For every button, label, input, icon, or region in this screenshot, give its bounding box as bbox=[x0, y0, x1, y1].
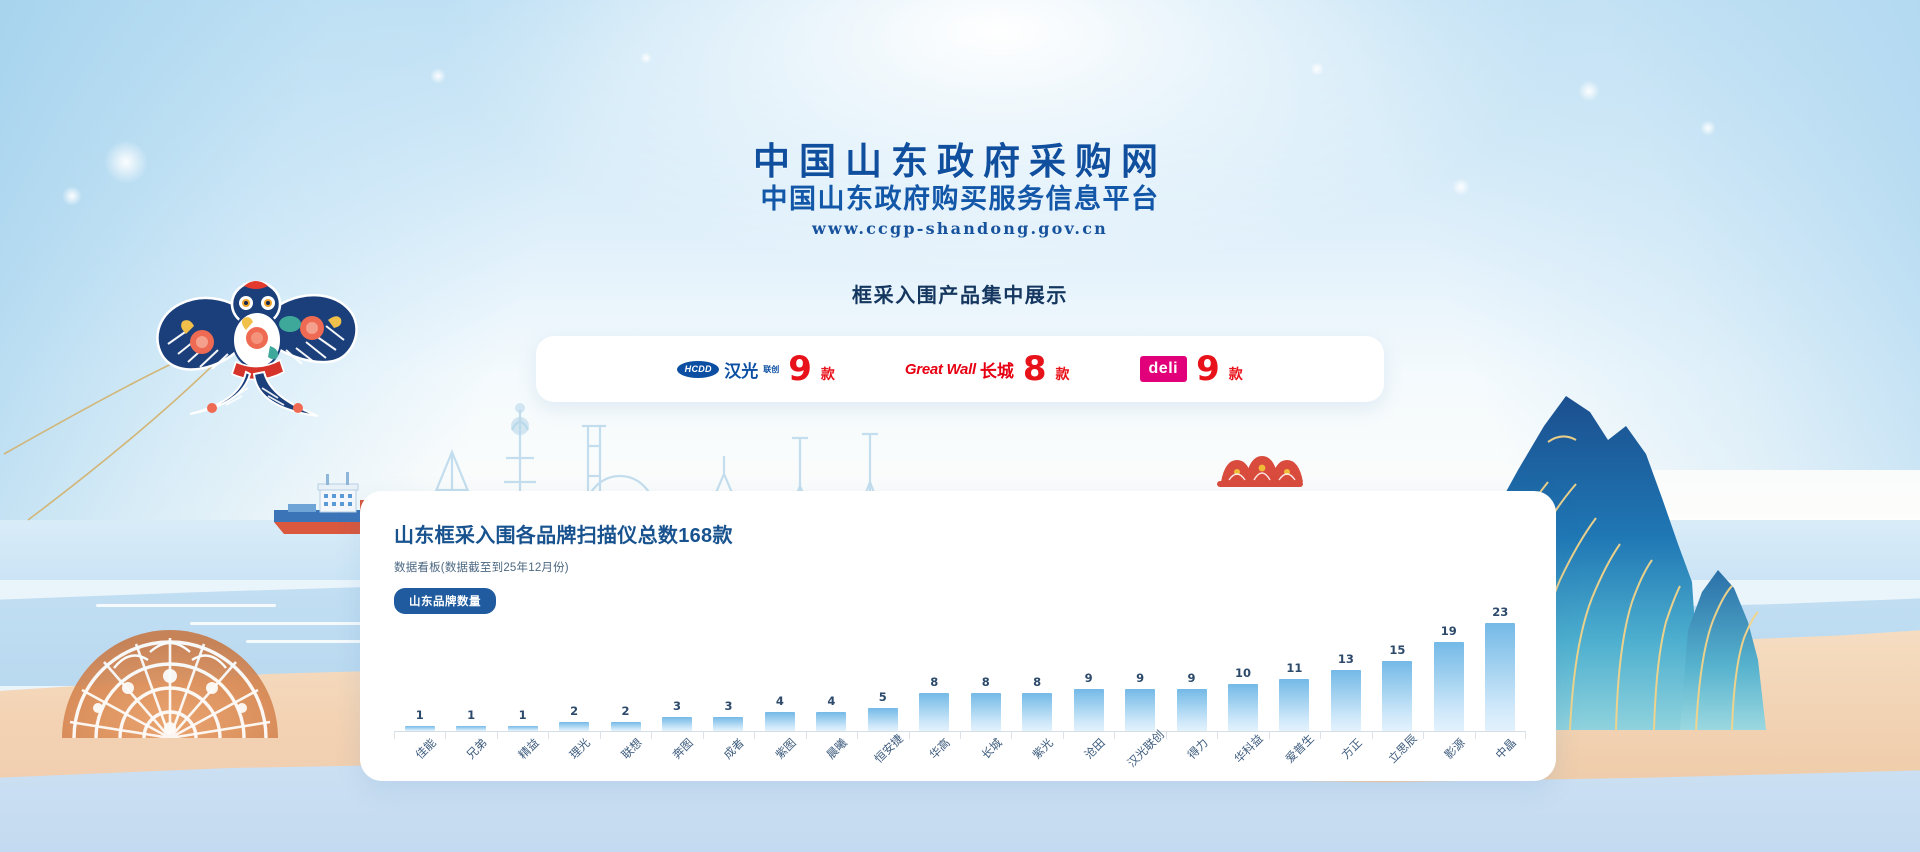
bar-value-label: 19 bbox=[1441, 624, 1457, 638]
bokeh-dot bbox=[1578, 80, 1600, 102]
brand-unit-hanguang: 款 bbox=[821, 364, 835, 384]
axis-tick bbox=[703, 731, 754, 740]
brand-unit-greatwall: 款 bbox=[1056, 364, 1070, 384]
chart-plot-area: 1112233445888999101113151923 bbox=[394, 603, 1526, 731]
x-label-cell: 立思辰 bbox=[1372, 741, 1423, 787]
chart-x-labels: 佳能兄弟精益理光联想奔图成者紫图晨曦恒安捷华高长城紫光沧田汉光联创得力华科益爱普… bbox=[394, 741, 1526, 787]
papercut-mandala bbox=[55, 598, 285, 738]
bar-rect[interactable] bbox=[1331, 670, 1361, 731]
bar-column[interactable]: 1 bbox=[497, 603, 548, 731]
bar-rect[interactable] bbox=[1125, 689, 1155, 731]
brand-item-hanguang[interactable]: HCDD 汉光 联创 9 款 bbox=[677, 352, 835, 386]
x-label-cell: 紫图 bbox=[754, 741, 805, 787]
bar-value-label: 9 bbox=[1188, 671, 1196, 685]
bar-column[interactable]: 9 bbox=[1166, 603, 1217, 731]
axis-tick bbox=[548, 731, 599, 740]
deli-logo-icon: deli bbox=[1140, 356, 1188, 382]
bokeh-dot bbox=[430, 68, 446, 84]
bar-column[interactable]: 8 bbox=[1011, 603, 1062, 731]
axis-tick bbox=[394, 731, 445, 740]
x-label-cell: 沧田 bbox=[1063, 741, 1114, 787]
site-header: 中国山东政府采购网 中国山东政府购买服务信息平台 www.ccgp-shando… bbox=[0, 140, 1920, 238]
brand-item-deli[interactable]: deli 9 款 bbox=[1140, 352, 1243, 386]
bar-rect[interactable] bbox=[919, 693, 949, 731]
x-label-cell: 华高 bbox=[909, 741, 960, 787]
axis-tick bbox=[1423, 731, 1474, 740]
bar-value-label: 11 bbox=[1286, 661, 1302, 675]
section-title: 框采入围产品集中展示 bbox=[0, 279, 1920, 308]
bar-value-label: 1 bbox=[416, 708, 424, 722]
bar-column[interactable]: 3 bbox=[703, 603, 754, 731]
bar-value-label: 23 bbox=[1492, 605, 1508, 619]
bar-rect[interactable] bbox=[662, 717, 692, 731]
site-subtitle: 中国山东政府购买服务信息平台 bbox=[0, 184, 1920, 217]
bokeh-dot bbox=[640, 52, 652, 64]
x-label-cell: 奔图 bbox=[651, 741, 702, 787]
bar-value-label: 5 bbox=[879, 690, 887, 704]
axis-tick bbox=[1320, 731, 1371, 740]
bar-value-label: 13 bbox=[1338, 652, 1354, 666]
brand-count-deli: 9 bbox=[1196, 352, 1220, 386]
axis-tick bbox=[754, 731, 805, 740]
bar-rect[interactable] bbox=[713, 717, 743, 731]
bar-value-label: 4 bbox=[827, 694, 835, 708]
site-url: www.ccgp-shandong.gov.cn bbox=[0, 219, 1920, 238]
bar-column[interactable]: 15 bbox=[1372, 603, 1423, 731]
bar-value-label: 15 bbox=[1389, 643, 1405, 657]
axis-tick bbox=[497, 731, 548, 740]
bar-column[interactable]: 1 bbox=[445, 603, 496, 731]
axis-tick bbox=[909, 731, 960, 740]
axis-tick bbox=[445, 731, 496, 740]
bar-rect[interactable] bbox=[816, 712, 846, 731]
bar-value-label: 8 bbox=[982, 675, 990, 689]
bar-column[interactable]: 1 bbox=[394, 603, 445, 731]
x-label-cell: 紫光 bbox=[1011, 741, 1062, 787]
greatwall-logo-cn: 长城 bbox=[980, 357, 1014, 382]
brand-count-greatwall: 8 bbox=[1023, 352, 1047, 386]
bar-column[interactable]: 9 bbox=[1114, 603, 1165, 731]
x-label-cell: 华科益 bbox=[1217, 741, 1268, 787]
greatwall-logo-icon: Great Wall 长城 bbox=[905, 357, 1014, 382]
chart-subtitle: 数据看板(数据截至到25年12月份) bbox=[394, 559, 1522, 575]
bar-rect[interactable] bbox=[868, 708, 898, 731]
bar-value-label: 2 bbox=[622, 704, 630, 718]
bar-column[interactable]: 13 bbox=[1320, 603, 1371, 731]
x-label-cell: 长城 bbox=[960, 741, 1011, 787]
bar-value-label: 4 bbox=[776, 694, 784, 708]
hanguang-logo-suffix: 联创 bbox=[763, 364, 779, 375]
bar-rect[interactable] bbox=[765, 712, 795, 731]
bar-value-label: 1 bbox=[519, 708, 527, 722]
bar-value-label: 3 bbox=[724, 699, 732, 713]
bar-column[interactable]: 4 bbox=[806, 603, 857, 731]
brand-summary-card: HCDD 汉光 联创 9 款 Great Wall 长城 8 款 deli 9 … bbox=[536, 336, 1384, 402]
x-label-cell: 晨曦 bbox=[806, 741, 857, 787]
x-label-cell: 影源 bbox=[1423, 741, 1474, 787]
axis-tick bbox=[1063, 731, 1114, 740]
bar-value-label: 8 bbox=[930, 675, 938, 689]
bar-value-label: 9 bbox=[1136, 671, 1144, 685]
x-label-cell: 成者 bbox=[703, 741, 754, 787]
x-label-cell: 理光 bbox=[548, 741, 599, 787]
x-label-cell: 汉光联创 bbox=[1114, 741, 1165, 787]
brand-item-greatwall[interactable]: Great Wall 长城 8 款 bbox=[905, 352, 1070, 386]
bar-rect[interactable] bbox=[1228, 684, 1258, 731]
bar-rect[interactable] bbox=[611, 722, 641, 731]
bar-column[interactable]: 4 bbox=[754, 603, 805, 731]
x-label-cell: 得力 bbox=[1166, 741, 1217, 787]
axis-tick bbox=[1475, 731, 1526, 740]
axis-tick bbox=[1011, 731, 1062, 740]
greatwall-logo-en: Great Wall bbox=[905, 361, 976, 378]
bar-series: 1112233445888999101113151923 bbox=[394, 603, 1526, 731]
bar-rect[interactable] bbox=[1177, 689, 1207, 731]
bar-value-label: 2 bbox=[570, 704, 578, 718]
x-label-cell: 兄弟 bbox=[445, 741, 496, 787]
deli-logo-text: deli bbox=[1140, 356, 1188, 382]
x-label-cell: 佳能 bbox=[394, 741, 445, 787]
axis-tick bbox=[651, 731, 702, 740]
brand-count-hanguang: 9 bbox=[788, 352, 812, 386]
site-title: 中国山东政府采购网 bbox=[0, 140, 1920, 183]
bar-value-label: 1 bbox=[467, 708, 475, 722]
bar-column[interactable]: 9 bbox=[1063, 603, 1114, 731]
papercut-ornament-icon bbox=[1215, 448, 1305, 494]
bar-rect[interactable] bbox=[1022, 693, 1052, 731]
brand-unit-deli: 款 bbox=[1229, 364, 1243, 384]
axis-tick bbox=[1166, 731, 1217, 740]
bar-value-label: 3 bbox=[673, 699, 681, 713]
x-label-cell: 爱普生 bbox=[1269, 741, 1320, 787]
hanguang-logo-icon: HCDD 汉光 联创 bbox=[677, 357, 779, 382]
bar-value-label: 8 bbox=[1033, 675, 1041, 689]
bokeh-dot bbox=[1700, 120, 1716, 136]
bar-rect[interactable] bbox=[1485, 623, 1515, 731]
bar-rect[interactable] bbox=[1074, 689, 1104, 731]
x-label-cell: 恒安捷 bbox=[857, 741, 908, 787]
axis-tick bbox=[600, 731, 651, 740]
bar-column[interactable]: 23 bbox=[1475, 603, 1526, 731]
bar-column[interactable]: 8 bbox=[909, 603, 960, 731]
x-label-cell: 精益 bbox=[497, 741, 548, 787]
axis-tick bbox=[960, 731, 1011, 740]
bar-column[interactable]: 2 bbox=[548, 603, 599, 731]
x-label-cell: 方正 bbox=[1320, 741, 1371, 787]
chart-panel: 山东框采入围各品牌扫描仪总数168款 数据看板(数据截至到25年12月份) 山东… bbox=[360, 491, 1556, 781]
bar-column[interactable]: 11 bbox=[1269, 603, 1320, 731]
bar-rect[interactable] bbox=[1382, 661, 1412, 731]
bar-column[interactable]: 3 bbox=[651, 603, 702, 731]
bar-column[interactable]: 8 bbox=[960, 603, 1011, 731]
x-label-cell: 中晶 bbox=[1475, 741, 1526, 787]
hanguang-logo-cn: 汉光 bbox=[724, 357, 758, 382]
bar-value-label: 10 bbox=[1235, 666, 1251, 680]
bokeh-dot bbox=[1310, 62, 1324, 76]
bar-rect[interactable] bbox=[971, 693, 1001, 731]
bar-column[interactable]: 10 bbox=[1217, 603, 1268, 731]
x-label-cell: 联想 bbox=[600, 741, 651, 787]
bar-rect[interactable] bbox=[1434, 642, 1464, 731]
axis-tick bbox=[806, 731, 857, 740]
bar-column[interactable]: 2 bbox=[600, 603, 651, 731]
bar-column[interactable]: 19 bbox=[1423, 603, 1474, 731]
chart-title: 山东框采入围各品牌扫描仪总数168款 bbox=[394, 519, 1522, 548]
bar-rect[interactable] bbox=[1279, 679, 1309, 731]
bar-value-label: 9 bbox=[1085, 671, 1093, 685]
hcdd-badge: HCDD bbox=[677, 361, 719, 378]
bar-rect[interactable] bbox=[559, 722, 589, 731]
bar-column[interactable]: 5 bbox=[857, 603, 908, 731]
